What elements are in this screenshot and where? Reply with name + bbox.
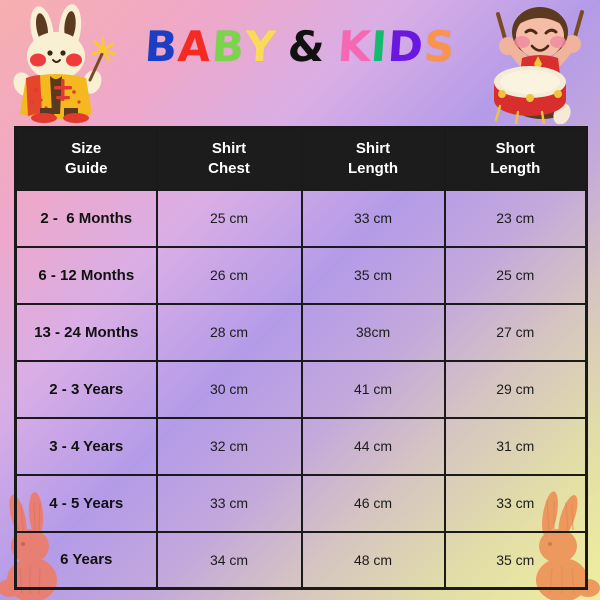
column-header-line1: Size: [71, 140, 101, 157]
table-row: 2 - 6 Months25 cm33 cm23 cm: [16, 190, 587, 247]
column-header-line1: Shirt: [212, 140, 246, 157]
cell-shirt-length: 48 cm: [302, 532, 445, 589]
cell-shirt-chest: 26 cm: [157, 247, 302, 304]
cell-shirt-chest: 34 cm: [157, 532, 302, 589]
column-header-size-guide: Size Guide: [16, 128, 157, 190]
title-letter: K: [336, 26, 372, 68]
column-header-line2: Guide: [65, 160, 108, 177]
title-letter: D: [386, 26, 425, 68]
size-guide-poster: BABY & KIDS Size Guide Shirt Chest Shirt…: [0, 0, 600, 600]
cell-size-label: 6 - 12 Months: [16, 247, 157, 304]
title-letter: A: [177, 26, 213, 68]
cell-shirt-length: 41 cm: [302, 361, 445, 418]
header-banner: BABY & KIDS: [0, 0, 600, 126]
cell-size-label: 3 - 4 Years: [16, 418, 157, 475]
column-header-line2: Length: [490, 160, 540, 177]
column-header-shirt-chest: Shirt Chest: [157, 128, 302, 190]
cell-short-length: 31 cm: [445, 418, 587, 475]
title-letter: S: [422, 26, 456, 68]
cell-shirt-length: 38cm: [302, 304, 445, 361]
cell-short-length: 33 cm: [445, 475, 587, 532]
cell-short-length: 35 cm: [445, 532, 587, 589]
cell-size-label: 6 Years: [16, 532, 157, 589]
table-row: 6 Years34 cm48 cm35 cm: [16, 532, 587, 589]
column-header-short-length: Short Length: [445, 128, 587, 190]
cell-shirt-chest: 30 cm: [157, 361, 302, 418]
table-row: 2 - 3 Years30 cm41 cm29 cm: [16, 361, 587, 418]
cell-short-length: 25 cm: [445, 247, 587, 304]
cell-shirt-chest: 32 cm: [157, 418, 302, 475]
column-header-line1: Shirt: [356, 140, 390, 157]
column-header-line2: Length: [348, 160, 398, 177]
cell-shirt-length: 46 cm: [302, 475, 445, 532]
title-letter: Y: [243, 26, 277, 68]
title-letter: B: [144, 26, 180, 68]
cell-short-length: 29 cm: [445, 361, 587, 418]
cell-short-length: 27 cm: [445, 304, 587, 361]
cell-size-label: 2 - 3 Years: [16, 361, 157, 418]
table-row: 4 - 5 Years33 cm46 cm33 cm: [16, 475, 587, 532]
cell-size-label: 13 - 24 Months: [16, 304, 157, 361]
cell-shirt-length: 44 cm: [302, 418, 445, 475]
column-header-shirt-length: Shirt Length: [302, 128, 445, 190]
size-guide-table: Size Guide Shirt Chest Shirt Length Shor…: [14, 126, 588, 590]
cell-shirt-length: 35 cm: [302, 247, 445, 304]
cell-size-label: 2 - 6 Months: [16, 190, 157, 247]
title-letter: B: [210, 26, 246, 68]
cell-shirt-chest: 25 cm: [157, 190, 302, 247]
page-title: BABY & KIDS: [0, 26, 600, 68]
cell-shirt-chest: 33 cm: [157, 475, 302, 532]
cell-shirt-chest: 28 cm: [157, 304, 302, 361]
column-header-line2: Chest: [208, 160, 250, 177]
table-row: 3 - 4 Years32 cm44 cm31 cm: [16, 418, 587, 475]
cell-shirt-length: 33 cm: [302, 190, 445, 247]
table-row: 6 - 12 Months26 cm35 cm25 cm: [16, 247, 587, 304]
table-row: 13 - 24 Months28 cm38cm27 cm: [16, 304, 587, 361]
title-letter: &: [287, 26, 328, 68]
cell-short-length: 23 cm: [445, 190, 587, 247]
table-header-row: Size Guide Shirt Chest Shirt Length Shor…: [16, 128, 587, 190]
cell-size-label: 4 - 5 Years: [16, 475, 157, 532]
column-header-line1: Short: [496, 140, 535, 157]
